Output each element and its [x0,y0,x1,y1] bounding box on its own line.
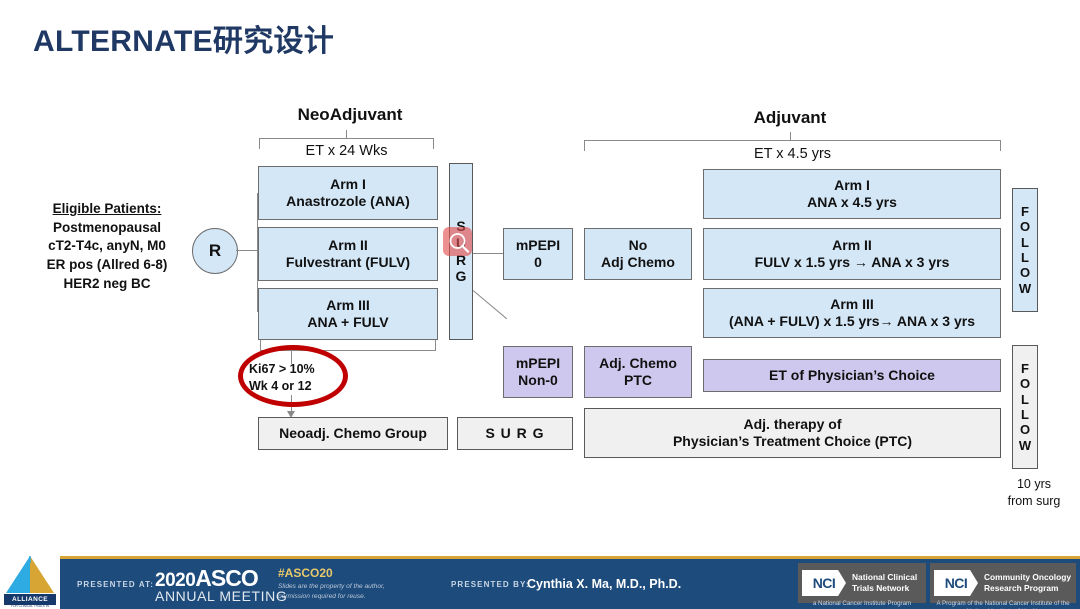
no-adj-chemo-line1: No [601,237,675,254]
followup-note-line1: 10 yrs [993,476,1075,493]
presenter-name: Cynthia X. Ma, M.D., Ph.D. [527,577,681,591]
eligibility-line-4: HER2 neg BC [12,275,202,294]
randomize-connector-h [236,250,258,251]
nci-corp-logo: NCI Community Oncology Research Program [930,563,1076,603]
followup-top-letter-2: O [1020,219,1030,234]
asco-hashtag: #ASCO20 [278,566,333,580]
followup-top-letter-5: O [1020,265,1030,280]
followup-top-letter-6: W [1019,281,1031,296]
alliance-logo-mark [0,556,60,597]
adj-arm-2-box[interactable]: Arm II FULV x 1.5 yrs → ANA x 3 yrs [703,228,1001,280]
eligibility-line-3: ER pos (Allred 6-8) [12,256,202,275]
neoadj-arm-3-detail: ANA + FULV [307,314,388,331]
neoadjuvant-bracket-tick [346,130,347,138]
followup-bottom-letter-6: W [1019,438,1031,453]
surg-to-mpepinon0-line [473,290,508,319]
footer-gold-rule [0,556,1080,559]
adj-chemo-ptc-box[interactable]: Adj. Chemo PTC [584,346,692,398]
eligible-patients-heading: Eligible Patients: [53,201,162,216]
mpepi-0-box[interactable]: mPEPI 0 [503,228,573,280]
nci-ctn-logo: NCI National Clinical Trials Network [798,563,926,603]
adj-therapy-line1: Adj. therapy of [673,416,912,433]
adj-arm-3-name: Arm III [729,296,975,313]
adj-arm-2-detail: FULV x 1.5 yrs → ANA x 3 yrs [755,254,950,271]
adj-chemo-ptc-line2: PTC [599,372,677,389]
nci-corp-line2: Research Program [984,583,1071,594]
mpepi-non0-line1: mPEPI [516,355,560,372]
nci-ctn-subtext: a National Cancer Institute Program [798,600,926,608]
followup-duration-note: 10 yrs from surg [993,476,1075,510]
asco-meeting-label: ANNUAL MEETING [155,588,287,604]
ki67-line-2: Wk 4 or 12 [249,378,345,395]
mpepi-0-line1: mPEPI [516,237,560,254]
ki67-annotation: Ki67 > 10% Wk 4 or 12 [249,361,345,395]
adjuvant-header: Adjuvant [700,108,880,128]
nci-corp-text: Community Oncology Research Program [984,572,1071,594]
presented-at-label: PRESENTED AT: [77,580,154,589]
no-adj-chemo-box[interactable]: No Adj Chemo [584,228,692,280]
followup-bottom-letter-3: L [1021,392,1029,407]
adjuvant-bracket-tick [790,132,791,140]
nci-ctn-text: National Clinical Trials Network [852,572,917,594]
neoadj-chemo-group-box[interactable]: Neoadj. Chemo Group [258,417,448,450]
neoadjuvant-header: NeoAdjuvant [275,105,425,125]
adj-arm-3-box[interactable]: Arm III (ANA + FULV) x 1.5 yrs→ ANA x 3 … [703,288,1001,338]
footer-legal-text: Slides are the property of the author, p… [278,582,408,601]
nci-ctn-line1: National Clinical [852,572,917,583]
eligibility-line-2: cT2-T4c, anyN, M0 [12,237,202,256]
nci-ctn-line2: Trials Network [852,583,917,594]
surgery-box[interactable]: S U R G [457,417,573,450]
mpepi-0-line2: 0 [516,254,560,271]
followup-bottom-letter-4: L [1021,407,1029,422]
neoadj-arm-1-detail: Anastrozole (ANA) [286,193,410,210]
followup-box-bottom[interactable]: F O L L O W [1012,345,1038,469]
neoadj-arm-3-box[interactable]: Arm III ANA + FULV [258,288,438,340]
nci-ctn-tag: NCI [802,570,846,596]
eligibility-line-1: Postmenopausal [12,219,202,238]
et-physicians-choice-box[interactable]: ET of Physician’s Choice [703,359,1001,392]
adj-chemo-ptc-line1: Adj. Chemo [599,355,677,372]
followup-bottom-letter-2: O [1020,376,1030,391]
ki67-line-1: Ki67 > 10% [249,361,345,378]
adj-therapy-line2: Physician’s Treatment Choice (PTC) [673,433,912,450]
neoadj-arm-1-box[interactable]: Arm I Anastrozole (ANA) [258,166,438,220]
alliance-logo: ALLIANCE FOR CLINICAL TRIALS IN ONCOLOGY [0,556,60,609]
followup-top-letter-3: L [1021,235,1029,250]
asco-logo: 2020ASCO ANNUAL MEETING [155,565,287,604]
followup-note-line2: from surg [993,493,1075,510]
followup-top-letter-1: F [1021,204,1029,219]
adj-arm-1-box[interactable]: Arm I ANA x 4.5 yrs [703,169,1001,219]
followup-top-letter-4: L [1021,250,1029,265]
adj-arm-3-detail: (ANA + FULV) x 1.5 yrs→ ANA x 3 yrs [729,313,975,330]
cursor-click-highlight [443,227,472,256]
adj-arm-1-detail: ANA x 4.5 yrs [807,194,897,211]
surg-letter-g: G [456,268,467,285]
adj-arm-2-name: Arm II [755,237,950,254]
alliance-logo-sub: FOR CLINICAL TRIALS IN ONCOLOGY [4,604,56,609]
nci-corp-subtext: A Program of the National Cancer Institu… [930,600,1076,609]
followup-bottom-letter-5: O [1020,422,1030,437]
surg-to-mpepi0-line [473,253,507,254]
neoadj-arm-2-box[interactable]: Arm II Fulvestrant (FULV) [258,227,438,281]
neoadj-arm-2-detail: Fulvestrant (FULV) [286,254,410,271]
neoadjuvant-duration: ET x 24 Wks [259,143,434,159]
nci-corp-tag: NCI [934,570,978,596]
neoadj-arm-3-name: Arm III [307,297,388,314]
no-adj-chemo-line2: Adj Chemo [601,254,675,271]
followup-bottom-letter-1: F [1021,361,1029,376]
mpepi-non0-line2: Non-0 [516,372,560,389]
followup-box-top[interactable]: F O L L O W [1012,188,1038,312]
footer-banner: ALLIANCE FOR CLINICAL TRIALS IN ONCOLOGY… [0,556,1080,609]
eligible-patients-block: Eligible Patients: Postmenopausal cT2-T4… [12,200,202,293]
randomization-circle: R [192,228,238,274]
adjuvant-duration: ET x 4.5 yrs [584,146,1001,162]
presented-by-label: PRESENTED BY: [451,580,530,589]
neoadj-arm-2-name: Arm II [286,237,410,254]
neoadj-arm-1-name: Arm I [286,176,410,193]
adj-therapy-ptc-box[interactable]: Adj. therapy of Physician’s Treatment Ch… [584,408,1001,458]
mpepi-non0-box[interactable]: mPEPI Non-0 [503,346,573,398]
adj-arm-1-name: Arm I [807,177,897,194]
nci-corp-line1: Community Oncology [984,572,1071,583]
slide-canvas: ALTERNATE研究设计 NeoAdjuvant Adjuvant ET x … [0,0,1080,609]
page-title: ALTERNATE研究设计 [33,16,334,60]
